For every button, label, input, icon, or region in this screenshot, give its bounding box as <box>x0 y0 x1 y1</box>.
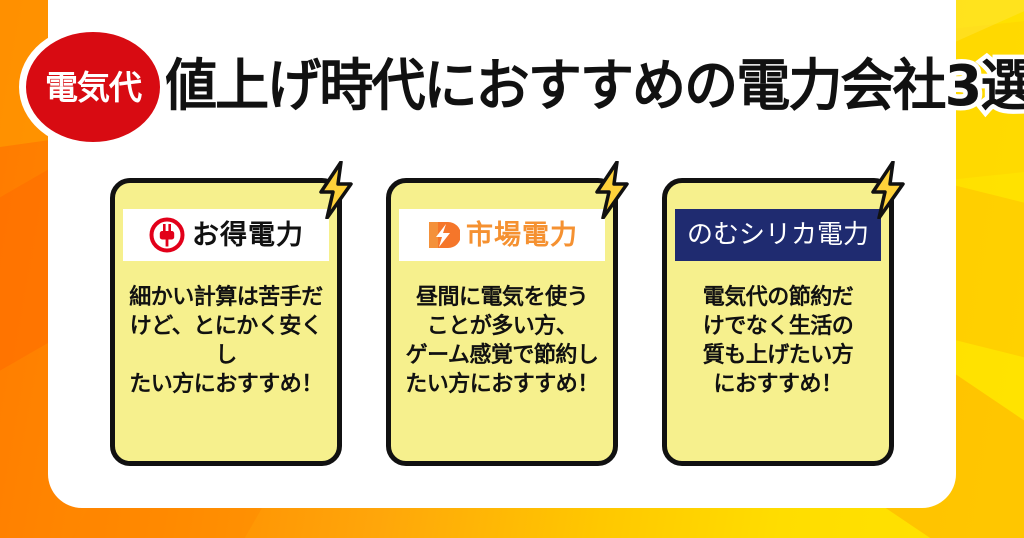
provider-name: のむシリカ電力 <box>687 222 869 248</box>
provider-card[interactable]: のむシリカ電力 電気代の節約だ けでなく生活の 質も上げたい方 におすすめ！ <box>662 178 894 466</box>
header: 電気代 値上げ時代におすすめの電力会社3選 <box>0 0 1024 150</box>
provider-logo: 市場電力 <box>399 209 605 261</box>
electricity-cost-badge: 電気代 <box>19 25 167 149</box>
lightning-bolt-badge-icon <box>426 218 460 252</box>
lightning-bolt-icon <box>315 161 357 219</box>
recommendation-cards: お得電力 細かい計算は苦手だ けど、とにかく安くし たい方におすすめ！ 市場電力 <box>48 178 956 478</box>
provider-name: 市場電力 <box>466 222 578 249</box>
plug-in-circle-icon <box>148 216 186 254</box>
lightning-bolt-icon <box>867 161 909 219</box>
infographic-canvas: 電気代 値上げ時代におすすめの電力会社3選 <box>0 0 1024 538</box>
page-title: 値上げ時代におすすめの電力会社3選 <box>163 54 993 120</box>
provider-logo: お得電力 <box>123 209 329 261</box>
provider-logo: のむシリカ電力 <box>675 209 881 261</box>
badge-label: 電気代 <box>45 71 141 104</box>
provider-card[interactable]: お得電力 細かい計算は苦手だ けど、とにかく安くし たい方におすすめ！ <box>110 178 342 466</box>
provider-card[interactable]: 市場電力 昼間に電気を使う ことが多い方、 ゲーム感覚で節約し たい方におすすめ… <box>386 178 618 466</box>
provider-description: 細かい計算は苦手だ けど、とにかく安くし たい方におすすめ！ <box>123 283 329 399</box>
lightning-bolt-icon <box>591 161 633 219</box>
page-title-text: 値上げ時代におすすめの電力会社3選 <box>163 59 1024 115</box>
provider-description: 電気代の節約だ けでなく生活の 質も上げたい方 におすすめ！ <box>675 283 881 399</box>
provider-description: 昼間に電気を使う ことが多い方、 ゲーム感覚で節約し たい方におすすめ！ <box>399 283 605 399</box>
provider-name: お得電力 <box>192 222 304 249</box>
